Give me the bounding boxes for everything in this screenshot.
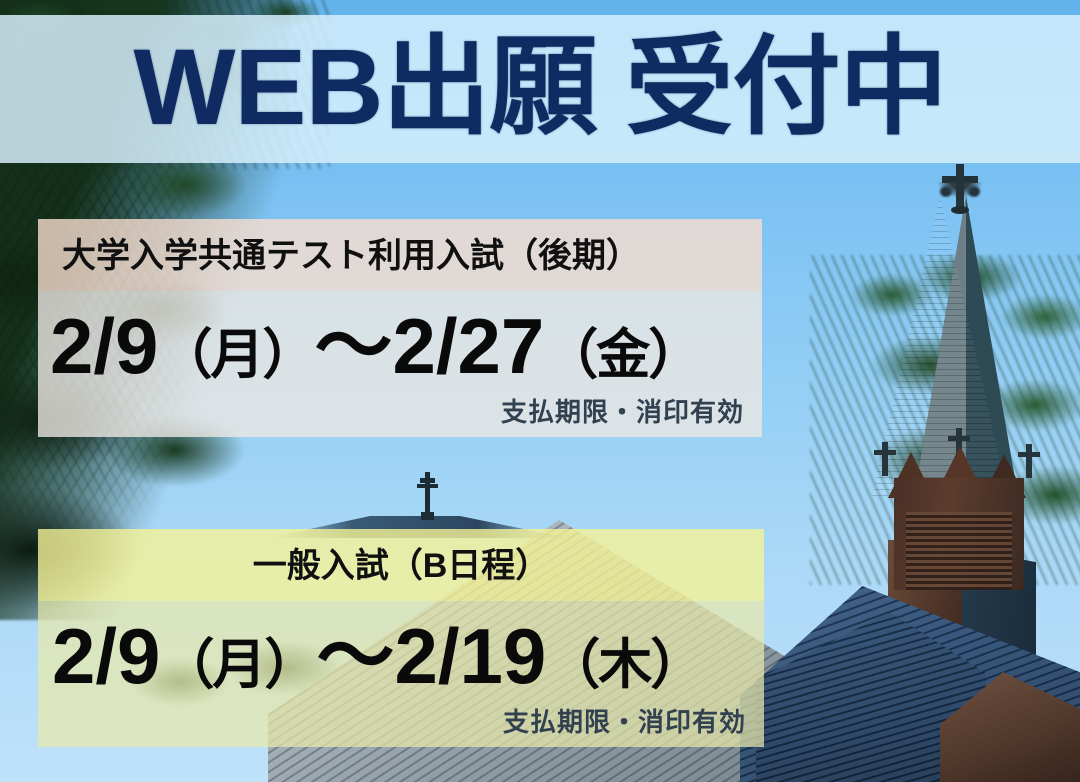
payment-deadline-note: 支払期限・消印有効 (38, 385, 762, 437)
weekday-end: （木） (546, 635, 702, 695)
weekday-start: （月） (158, 325, 314, 385)
date-end: 2/19 (394, 612, 546, 700)
exam-card-body: 2/9（月）〜2/19（木） 支払期限・消印有効 (38, 601, 764, 747)
cross-icon (956, 164, 964, 212)
date-start: 2/9 (50, 302, 158, 390)
weekday-start: （月） (160, 635, 316, 695)
weekday-end: （金） (544, 325, 700, 385)
payment-deadline-note: 支払期限・消印有効 (38, 695, 764, 747)
header-banner: WEB出願 受付中 (0, 15, 1080, 163)
exam-card-ippan-b: 一般入試（B日程） 2/9（月）〜2/19（木） 支払期限・消印有効 (38, 529, 764, 747)
date-start: 2/9 (52, 612, 160, 700)
date-end: 2/27 (392, 302, 544, 390)
exam-card-kyotsu-test-kouki: 大学入学共通テスト利用入試（後期） 2/9（月）〜2/27（金） 支払期限・消印… (38, 219, 762, 437)
belfry-louvres (906, 512, 1012, 590)
range-mark: 〜 (314, 302, 392, 390)
pinnacle-right (1026, 444, 1032, 478)
application-period: 2/9（月）〜2/27（金） (38, 291, 762, 385)
application-period: 2/9（月）〜2/19（木） (38, 601, 764, 695)
exam-card-body: 2/9（月）〜2/27（金） 支払期限・消印有効 (38, 291, 762, 437)
exam-card-title: 一般入試（B日程） (38, 529, 764, 601)
page-title: WEB出願 受付中 (134, 33, 947, 141)
exam-card-title: 大学入学共通テスト利用入試（後期） (38, 219, 762, 291)
roof-cross-base (421, 512, 434, 520)
church-steeple (862, 160, 1080, 590)
finial-ball-icon (951, 206, 969, 214)
range-mark: 〜 (316, 612, 394, 700)
roof-cross-shaft (425, 472, 430, 516)
roof-cross-icon (412, 472, 442, 530)
